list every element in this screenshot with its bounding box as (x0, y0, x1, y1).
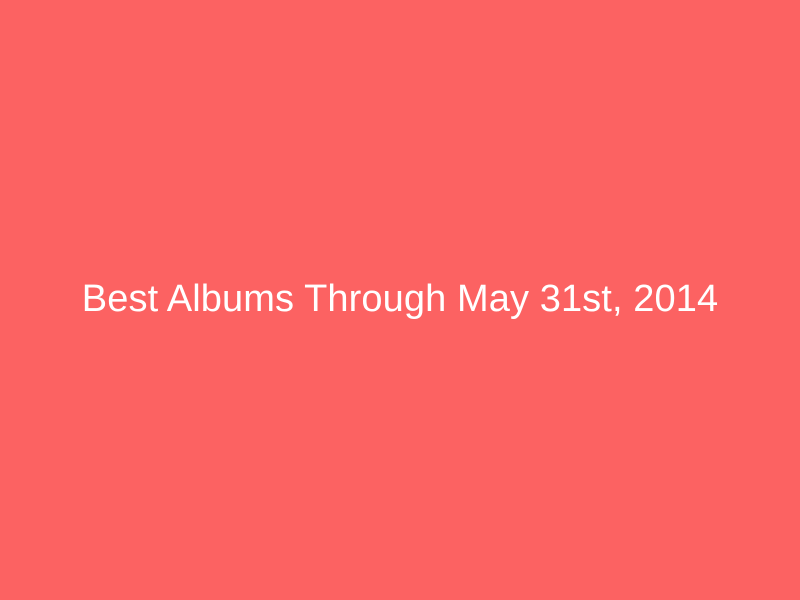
title-card: Best Albums Through May 31st, 2014 (0, 0, 800, 600)
card-title: Best Albums Through May 31st, 2014 (82, 278, 718, 322)
